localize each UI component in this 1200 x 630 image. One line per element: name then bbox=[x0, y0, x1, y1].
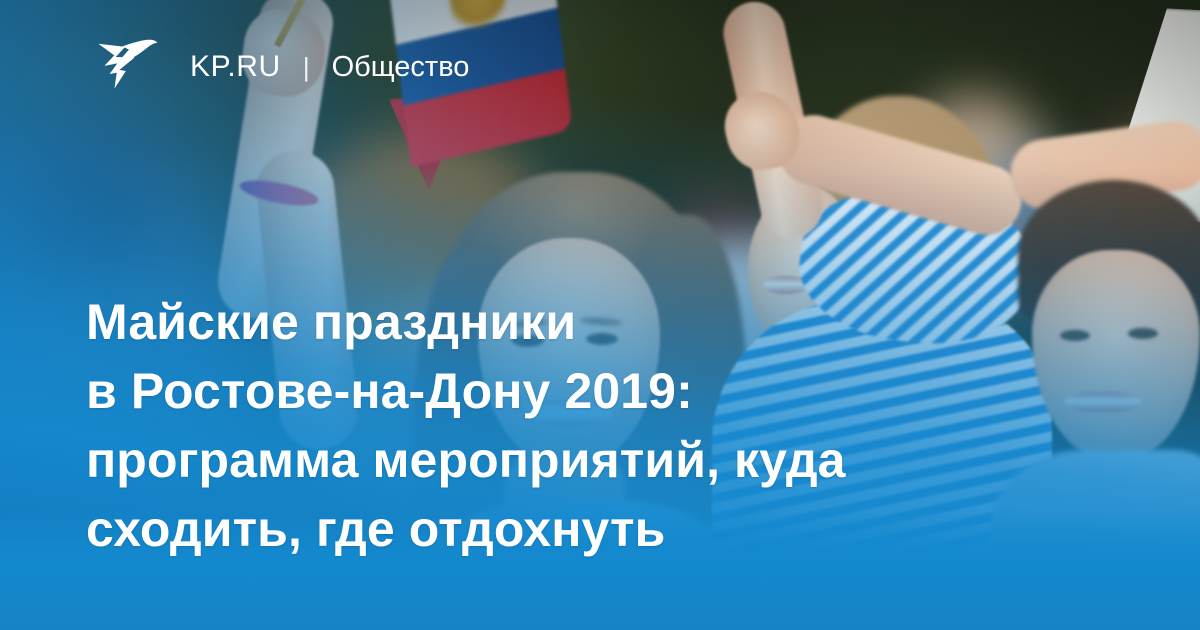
brand-name[interactable]: KP.RU bbox=[190, 52, 281, 82]
title-line-1: Майские праздники bbox=[86, 288, 1096, 357]
title-line-3: программа мероприятий, куда bbox=[86, 426, 1096, 495]
article-cover-card: KP.RU | Общество Майские праздники в Рос… bbox=[0, 0, 1200, 630]
title-line-2: в Ростове-на-Дону 2019: bbox=[86, 357, 1096, 426]
rubric-link[interactable]: Общество bbox=[332, 53, 470, 82]
brand-separator: | bbox=[303, 54, 310, 80]
title-line-4: сходить, где отдохнуть bbox=[86, 495, 1096, 564]
brand-header[interactable]: KP.RU | Общество bbox=[96, 38, 469, 96]
article-title: Майские праздники в Ростове-на-Дону 2019… bbox=[86, 288, 1096, 564]
kp-swallow-bird-icon bbox=[96, 38, 158, 96]
